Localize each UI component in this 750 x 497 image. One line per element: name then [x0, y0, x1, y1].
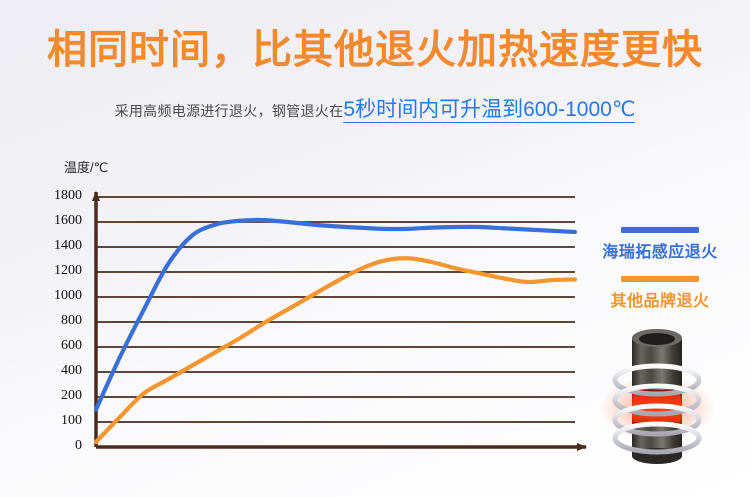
- induction-coil-illustration: [592, 322, 722, 472]
- legend-swatch-orange: [621, 276, 699, 282]
- legend-item-haruituo: 海瑞拓感应退火: [585, 227, 735, 262]
- page-root: 相同时间，比其他退火加热速度更快 采用高频电源进行退火，钢管退火在5秒时间内可升…: [0, 0, 750, 497]
- chart-gridlines: [96, 197, 575, 422]
- legend-swatch-blue: [621, 227, 699, 233]
- pipe-bore: [639, 333, 675, 345]
- chart-series: [96, 220, 575, 442]
- legend-label-blue: 海瑞拓感应退火: [585, 238, 735, 262]
- legend-label-orange: 其他品牌退火: [585, 287, 735, 311]
- legend-item-other-brands: 其他品牌退火: [585, 276, 735, 311]
- series-line-orange: [96, 258, 575, 442]
